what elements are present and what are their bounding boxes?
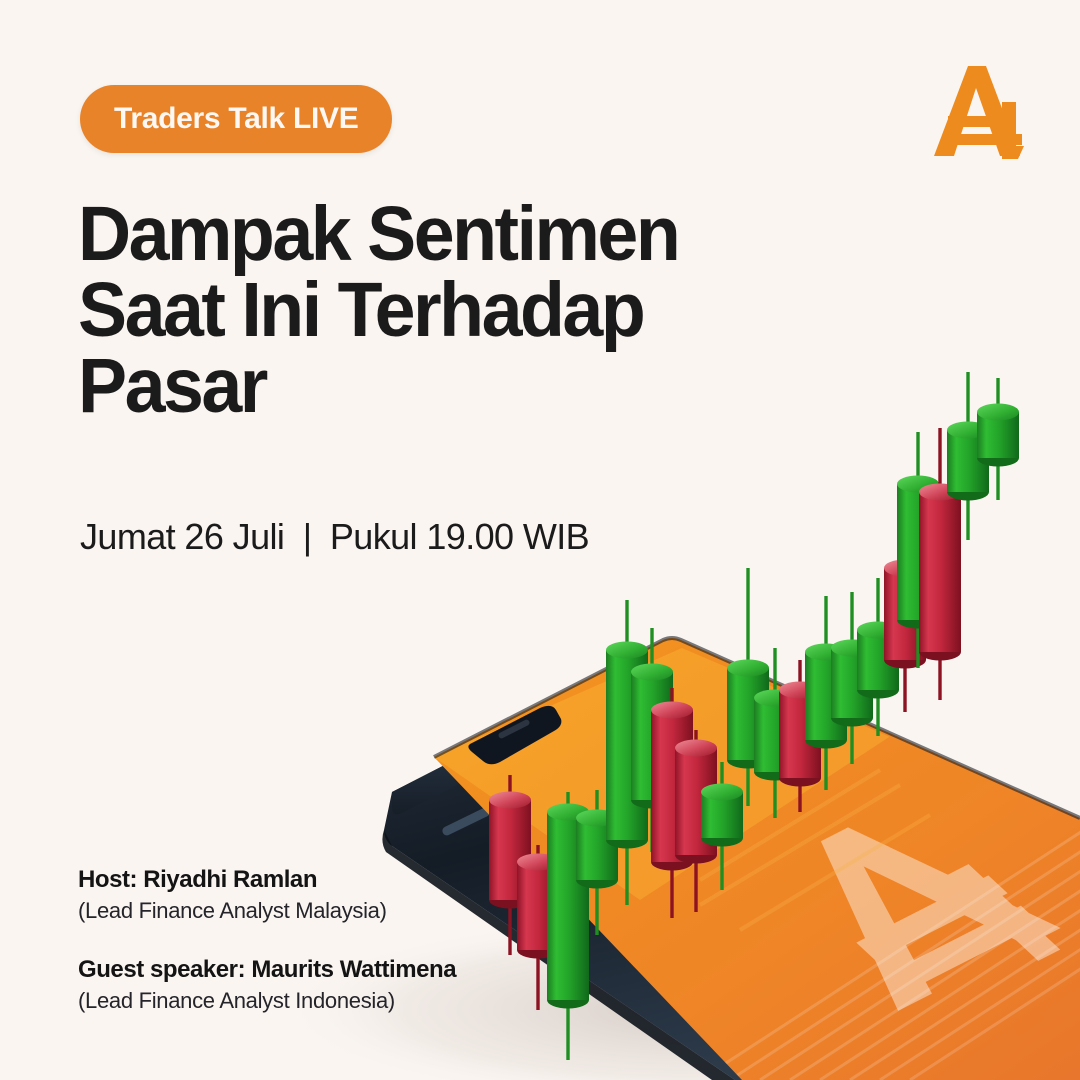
guest-credit: Guest speaker: Maurits Wattimena (Lead F… xyxy=(78,956,456,1014)
page-title: Dampak Sentimen Saat Ini Terhadap Pasar xyxy=(78,196,785,425)
headline-line-2: Saat Ini Terhadap xyxy=(78,272,785,348)
datetime-separator: | xyxy=(294,516,321,557)
brand-logo-a-icon xyxy=(928,60,1036,162)
event-datetime: Jumat 26 Juli | Pukul 19.00 WIB xyxy=(80,516,589,558)
live-badge: Traders Talk LIVE xyxy=(80,85,392,153)
guest-name: Guest speaker: Maurits Wattimena xyxy=(78,956,456,984)
guest-role: (Lead Finance Analyst Indonesia) xyxy=(78,988,456,1014)
event-date: Jumat 26 Juli xyxy=(80,516,284,557)
host-credit: Host: Riyadhi Ramlan (Lead Finance Analy… xyxy=(78,866,456,924)
host-role: (Lead Finance Analyst Malaysia) xyxy=(78,898,456,924)
credits-block: Host: Riyadhi Ramlan (Lead Finance Analy… xyxy=(78,866,456,1046)
event-time: Pukul 19.00 WIB xyxy=(330,516,589,557)
live-badge-label: Traders Talk LIVE xyxy=(114,102,358,136)
host-name: Host: Riyadhi Ramlan xyxy=(78,866,456,894)
headline-line-3: Pasar xyxy=(78,348,785,424)
headline-line-1: Dampak Sentimen xyxy=(78,196,785,272)
